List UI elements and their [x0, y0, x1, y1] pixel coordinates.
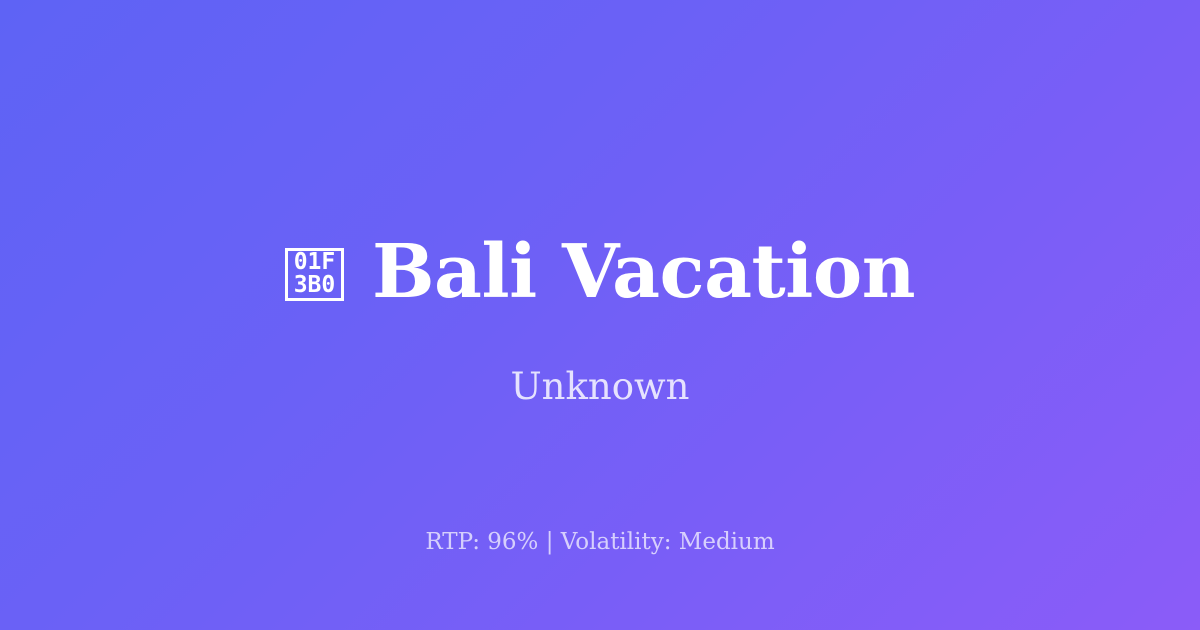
game-title: Bali Vacation	[372, 234, 915, 312]
title-inner: 01F 3B0 Bali Vacation	[0, 234, 1200, 312]
game-meta-line: RTP: 96% | Volatility: Medium	[0, 528, 1200, 557]
slot-machine-emoji-icon: 01F 3B0	[285, 248, 344, 301]
game-provider-subtitle: Unknown	[0, 365, 1200, 409]
tofu-codepoint-bottom: 3B0	[294, 274, 336, 297]
tofu-codepoint-top: 01F	[294, 251, 336, 274]
game-preview-card: 01F 3B0 Bali Vacation Unknown RTP: 96% |…	[0, 0, 1200, 630]
